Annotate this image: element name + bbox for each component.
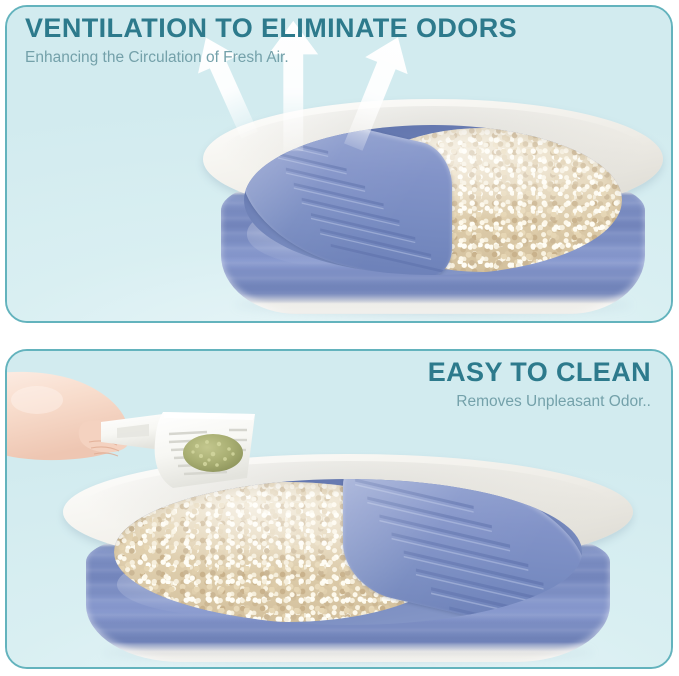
human-hand [5,372,130,460]
page-title-ventilation: VENTILATION TO ELIMINATE ODORS [25,14,517,44]
subtitle-easy-to-clean: Removes Unpleasant Odor.. [428,393,651,412]
ventilation-text-block: VENTILATION TO ELIMINATE ODORS Enhancing… [25,14,517,67]
subtitle-ventilation: Enhancing the Circulation of Fresh Air. [25,49,517,68]
hand-with-scoop-group [5,370,307,510]
infographic-root: VENTILATION TO ELIMINATE ODORS Enhancing… [0,0,679,676]
page-title-easy-to-clean: EASY TO CLEAN [428,358,651,388]
easy-to-clean-text-block: EASY TO CLEAN Removes Unpleasant Odor.. [428,358,651,411]
scoop-blade [155,412,255,488]
